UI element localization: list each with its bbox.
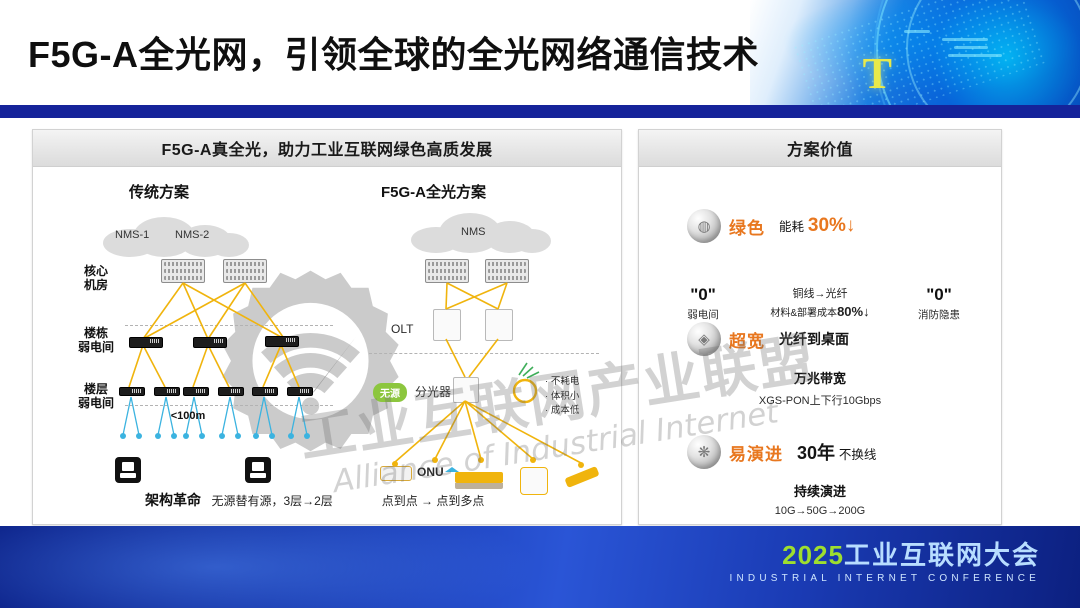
right-panel-header: 方案价值 (639, 130, 1001, 167)
value-green-metric-prefix: 能耗 (779, 220, 804, 234)
conference-name-cn: 工业互联网大会 (844, 540, 1040, 570)
zero-fire-risk-value: "0" (893, 285, 985, 305)
value-evolution-suffix: 不换线 (839, 448, 877, 462)
conference-year: 2025 (782, 540, 844, 570)
zero-fire-risk-label: 消防隐患 (893, 307, 985, 322)
brand-t-logo: T (863, 52, 892, 96)
note-strong-label: 架构革命 (145, 492, 201, 508)
title-band: T F5G-A全光网，引领全球的全光网络通信技术 (0, 0, 1080, 105)
zero-weak-room-block: "0" 弱电间 (661, 285, 745, 322)
title-divider-rule (0, 105, 1080, 118)
page-title: F5G-A全光网，引领全球的全光网络通信技术 (28, 26, 759, 78)
note-text-1: 无源替有源，3层→2层 (211, 494, 332, 508)
architecture-revolution-note: 架构革命 无源替有源，3层→2层 点到点 → 点到多点 (145, 490, 484, 510)
value-ultrabroadband-headline: ◈ 超宽 光纤到桌面 (639, 322, 1001, 356)
zero-fire-risk-block: "0" 消防隐患 (893, 285, 985, 322)
note-text-2: 点到点 → 点到多点 (382, 494, 485, 508)
right-panel: 方案价值 ◍ 绿色 能耗 30%↓ "0" (638, 129, 1002, 525)
value-green-metric-number: 30%↓ (808, 215, 856, 236)
advantage-item-2: 体积小 (545, 390, 579, 405)
onu-label: ONU (417, 465, 444, 479)
conference-logo: 2025工业互联网大会 INDUSTRIAL INTERNET CONFEREN… (730, 542, 1040, 584)
zero-weak-room-value: "0" (661, 285, 745, 305)
value-ultrabroadband-headline-text: 光纤到桌面 (779, 329, 849, 349)
cluster-icon: ❋ (687, 435, 721, 469)
advantage-item-1: 不耗电 (545, 375, 579, 390)
advantage-item-3: 成本低 (545, 404, 579, 419)
passive-advantages-list: 不耗电 体积小 成本低 (545, 375, 579, 419)
slide-body: F5G-A真全光，助力工业互联网绿色高质发展 (0, 118, 1080, 526)
right-panel-body: ◍ 绿色 能耗 30%↓ "0" 弱电间 铜线→光纤 (639, 167, 1001, 524)
onu-router-device (380, 466, 412, 481)
value-green-headline: ◍ 绿色 能耗 30%↓ (639, 209, 1001, 243)
left-panel-body: 传统方案 F5G-A全光方案 NMS-1 NMS-2 核心机房 楼栋弱电间 楼层… (33, 167, 621, 524)
cost-number: 80%↓ (837, 304, 870, 319)
cost-prefix: 材料&部署成本 (770, 308, 837, 319)
copper-to-fiber-title: 铜线→光纤 (745, 285, 895, 301)
copper-to-fiber-cost: 材料&部署成本80%↓ (745, 304, 895, 319)
tech-decoration-graphic (750, 0, 1080, 105)
f5ga-nms-label: NMS (461, 226, 485, 238)
slide-footer: 2025工业互联网大会 INDUSTRIAL INTERNET CONFEREN… (0, 526, 1080, 608)
conference-logo-line1: 2025工业互联网大会 (730, 542, 1040, 568)
value-ultrabroadband-details: 万兆带宽 XGS-PON上下行10Gbps (639, 368, 1001, 408)
copper-to-fiber-block: 铜线→光纤 材料&部署成本80%↓ (745, 285, 895, 319)
onu-bar-device-base (455, 483, 503, 489)
evolution-sub-title: 持续演进 (639, 481, 1001, 500)
slide-root: T F5G-A全光网，引领全球的全光网络通信技术 F5G-A真全光，助力工业互联… (0, 0, 1080, 608)
evolution-sub-text: 10G→50G→200G (639, 505, 1001, 517)
nms2-label: NMS-2 (175, 229, 209, 241)
zero-weak-room-label: 弱电间 (661, 307, 745, 322)
conference-name-en: INDUSTRIAL INTERNET CONFERENCE (730, 573, 1040, 584)
value-block-evolution: ❋ 易演进 30年 不换线 持续演进 10G→50G→200G (639, 435, 1001, 517)
left-panel-header: F5G-A真全光，助力工业互联网绿色高质发展 (33, 130, 621, 167)
value-ultrabroadband-keyword: 超宽 (729, 327, 765, 352)
left-panel: F5G-A真全光，助力工业互联网绿色高质发展 (32, 129, 622, 525)
value-evolution-metric: 30年 不换线 (797, 439, 876, 465)
right-panel-header-text: 方案价值 (787, 136, 853, 160)
onu-bar-device (455, 472, 503, 483)
onu-box-device (520, 467, 548, 495)
value-evolution-keyword: 易演进 (729, 440, 783, 465)
value-evolution-headline: ❋ 易演进 30年 不换线 (639, 435, 1001, 469)
value-evolution-years: 30年 (797, 443, 835, 463)
value-evolution-details: 持续演进 10G→50G→200G (639, 481, 1001, 517)
nms1-label: NMS-1 (115, 229, 149, 241)
globe-icon: ◍ (687, 209, 721, 243)
diamond-icon: ◈ (687, 322, 721, 356)
value-green-metric: 能耗 30%↓ (779, 215, 855, 237)
value-block-ultrabroadband: ◈ 超宽 光纤到桌面 万兆带宽 XGS-PON上下行10Gbps (639, 322, 1001, 408)
left-panel-header-text: F5G-A真全光，助力工业互联网绿色高质发展 (161, 136, 492, 160)
value-block-green: ◍ 绿色 能耗 30%↓ "0" 弱电间 铜线→光纤 (639, 209, 1001, 243)
ultrabroadband-sub-text: XGS-PON上下行10Gbps (639, 392, 1001, 408)
ultrabroadband-sub-title: 万兆带宽 (639, 368, 1001, 387)
value-green-keyword: 绿色 (729, 214, 765, 239)
